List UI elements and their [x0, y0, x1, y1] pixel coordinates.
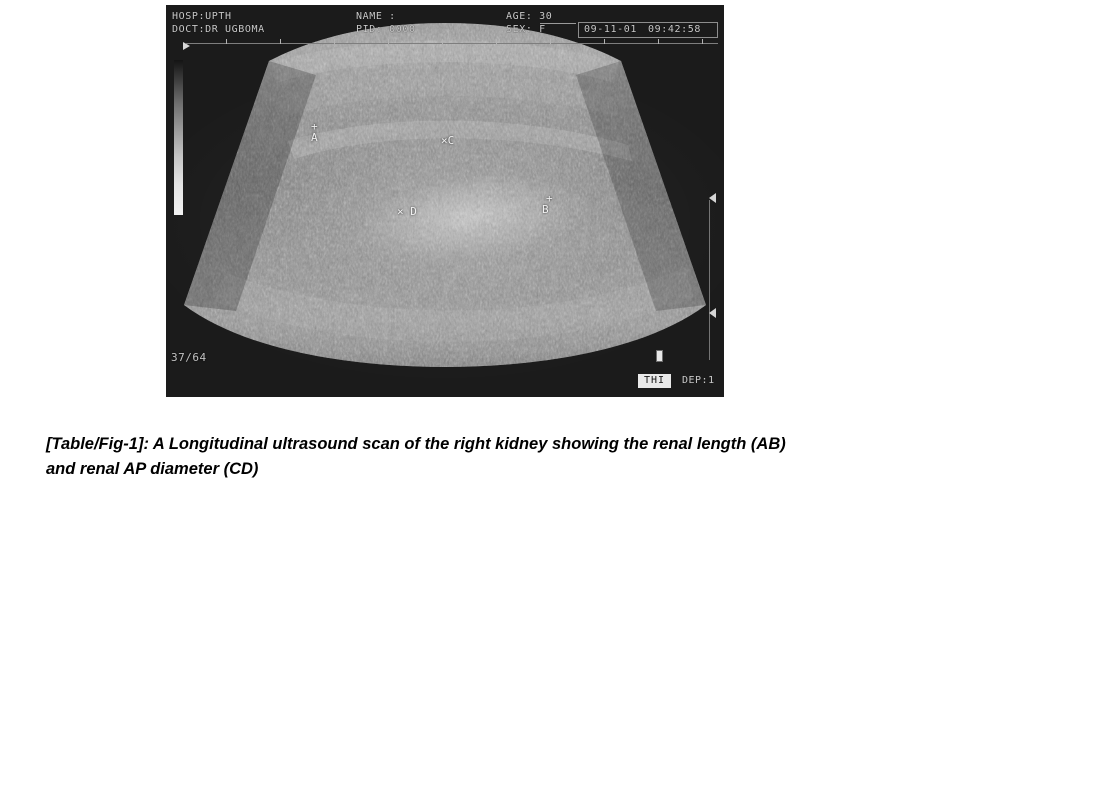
frame-counter: 37/64: [171, 351, 207, 364]
depth-caret-icon: [709, 308, 716, 318]
ruler-tick: [496, 39, 497, 44]
ruler-tick: [442, 39, 443, 44]
caliper-label-a: A: [311, 131, 318, 144]
caliper-marker-a: + A: [311, 121, 318, 143]
ultrasound-image: HOSP:UPTH DOCT:DR UGBOMA NAME : PID: 000…: [166, 5, 724, 397]
focus-zone-marker: [656, 350, 663, 362]
ruler-tick: [334, 39, 335, 44]
caliper-glyph-cross: ×: [397, 205, 404, 218]
ruler-tick: [226, 39, 227, 44]
patient-id-label: PID: 0000: [356, 24, 416, 35]
ultrasound-sector: [166, 5, 724, 397]
ruler-tick: [604, 39, 605, 44]
patient-sex-label: SEX: F: [506, 24, 546, 35]
caliper-marker-d: × D: [397, 206, 417, 217]
ruler-tick: [658, 39, 659, 44]
age-underline-rule: [540, 23, 576, 24]
caliper-marker-b: + B: [538, 193, 553, 215]
patient-age-label: AGE: 30: [506, 11, 552, 22]
ruler-tick: [702, 39, 703, 44]
ruler-tick: [280, 39, 281, 44]
doctor-label: DOCT:DR UGBOMA: [172, 24, 265, 35]
caliper-glyph-cross: ×: [441, 134, 448, 147]
depth-readout: DEP:1: [682, 375, 715, 386]
depth-caret-icon: [709, 193, 716, 203]
figure-caption: [Table/Fig-1]: A Longitudinal ultrasound…: [46, 432, 806, 482]
scan-date: 09-11-01: [584, 24, 637, 35]
hospital-label: HOSP:UPTH: [172, 11, 232, 22]
patient-name-label: NAME :: [356, 11, 396, 22]
ruler-tick: [550, 39, 551, 44]
caliper-label-c: C: [448, 134, 455, 147]
sector-scan-graphic: [166, 5, 724, 397]
top-scale-ruler: [186, 43, 718, 44]
depth-scale-line: [709, 200, 710, 360]
caliper-label-b: B: [542, 203, 549, 216]
grayscale-calibration-bar: [174, 60, 183, 215]
caliper-label-d: D: [410, 205, 417, 218]
caliper-marker-c: ×C: [441, 135, 454, 146]
thi-badge: THI: [638, 374, 671, 388]
ruler-tick: [388, 39, 389, 44]
scan-time: 09:42:58: [648, 24, 701, 35]
